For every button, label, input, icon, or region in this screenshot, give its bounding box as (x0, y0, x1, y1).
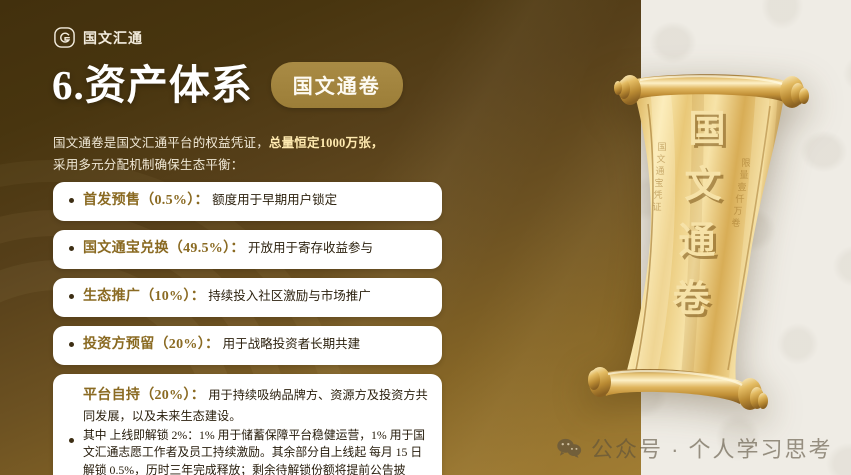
svg-text:仟: 仟 (735, 193, 744, 204)
platform-reserve-body: 平台自持（20%）： 用于持续吸纳品牌方、资源方及投资方共同发展，以及未来生态建… (83, 385, 428, 475)
allocation-label: 投资方预留（20%）： (83, 337, 219, 352)
allocation-card[interactable]: 生态推广（10%）： 持续投入社区激励与市场推广 (53, 278, 442, 317)
page-title: 6.资产体系 (52, 65, 253, 106)
bullet-icon (69, 246, 74, 251)
bullet-icon (69, 342, 74, 347)
svg-text:壹: 壹 (737, 181, 746, 192)
gwht-emblem-icon (53, 26, 76, 49)
intro-paragraph: 国文通卷是国文汇通平台的权益凭证，总量恒定1000万张， 采用多元分配机制确保生… (53, 133, 453, 176)
allocation-card-body: 投资方预留（20%）： 用于战略投资者长期共建 (83, 335, 428, 355)
bullet-icon (69, 198, 74, 203)
watermark-text: 公众号 · 个人学习思考 (591, 432, 833, 464)
svg-text:文: 文 (685, 164, 722, 206)
allocation-desc: 用于战略投资者长期共建 (223, 337, 361, 351)
allocation-label: 国文通宝兑换（49.5%）： (83, 241, 245, 256)
svg-text:通: 通 (679, 221, 716, 262)
wechat-icon (556, 437, 582, 459)
slide-root: 国文汇通 6.资产体系 国文通卷 国文通卷是国文汇通平台的权益凭证，总量恒定10… (0, 0, 851, 475)
svg-text:量: 量 (739, 170, 748, 180)
allocation-card-body: 生态推广（10%）： 持续投入社区激励与市场推广 (83, 287, 428, 307)
svg-text:卷: 卷 (673, 278, 711, 320)
allocation-card-body: 首发预售（0.5%）： 额度用于早期用户锁定 (83, 191, 428, 211)
platform-reserve-card[interactable]: 平台自持（20%）： 用于持续吸纳品牌方、资源方及投资方共同发展，以及未来生态建… (53, 374, 442, 475)
allocation-card-line: 首发预售（0.5%）： 额度用于早期用户锁定 (83, 191, 428, 211)
title-badge: 国文通卷 (271, 62, 403, 108)
svg-text:证: 证 (652, 202, 661, 212)
allocation-card[interactable]: 投资方预留（20%）： 用于战略投资者长期共建 (53, 326, 442, 365)
svg-text:卷: 卷 (731, 217, 740, 228)
allocation-desc: 持续投入社区激励与市场推广 (208, 289, 371, 303)
allocation-card-line: 国文通宝兑换（49.5%）： 开放用于寄存收益参与 (83, 239, 428, 259)
platform-reserve-label: 平台自持（20%）： (83, 388, 205, 403)
intro-lead: 国文通卷是国文汇通平台的权益凭证， (53, 136, 269, 150)
svg-text:文: 文 (656, 153, 665, 164)
svg-text:凭: 凭 (653, 189, 662, 200)
allocation-card-list: 首发预售（0.5%）： 额度用于早期用户锁定 国文通宝兑换（49.5%）： 开放… (53, 182, 442, 475)
allocation-card-line: 投资方预留（20%）： 用于战略投资者长期共建 (83, 335, 428, 355)
brand-name: 国文汇通 (83, 28, 143, 48)
allocation-card[interactable]: 首发预售（0.5%）： 额度用于早期用户锁定 (53, 182, 442, 221)
allocation-desc: 额度用于早期用户锁定 (212, 193, 337, 207)
platform-reserve-detail: 其中 上线即解锁 2%：1% 用于储蓄保障平台稳健运营，1% 用于国文汇通志愿工… (83, 427, 428, 475)
svg-text:通: 通 (655, 166, 664, 176)
allocation-label: 生态推广（10%）： (83, 289, 205, 304)
svg-text:万: 万 (733, 206, 742, 216)
svg-text:宝: 宝 (654, 177, 663, 188)
intro-highlight: 总量恒定1000万张， (269, 136, 384, 150)
allocation-card-body: 国文通宝兑换（49.5%）： 开放用于寄存收益参与 (83, 239, 428, 259)
brand-logo: 国文汇通 (53, 26, 143, 49)
title-row: 6.资产体系 国文通卷 (52, 62, 403, 108)
svg-text:国: 国 (689, 109, 726, 150)
bullet-icon (69, 438, 74, 443)
golden-scroll-artwork: 国 国 文 文 通 通 卷 卷 国文 通宝 凭证 限量 壹仟 万卷 (588, 58, 824, 418)
svg-text:限: 限 (741, 158, 750, 168)
svg-text:国: 国 (657, 142, 666, 152)
intro-tail: 采用多元分配机制确保生态平衡： (53, 158, 244, 172)
bullet-icon (69, 294, 74, 299)
allocation-label: 首发预售（0.5%）： (83, 193, 209, 208)
allocation-card[interactable]: 国文通宝兑换（49.5%）： 开放用于寄存收益参与 (53, 230, 442, 269)
allocation-card-line: 生态推广（10%）： 持续投入社区激励与市场推广 (83, 287, 428, 307)
platform-reserve-head: 平台自持（20%）： 用于持续吸纳品牌方、资源方及投资方共同发展，以及未来生态建… (83, 385, 428, 426)
watermark: 公众号 · 个人学习思考 (556, 432, 833, 464)
allocation-desc: 开放用于寄存收益参与 (248, 241, 373, 255)
